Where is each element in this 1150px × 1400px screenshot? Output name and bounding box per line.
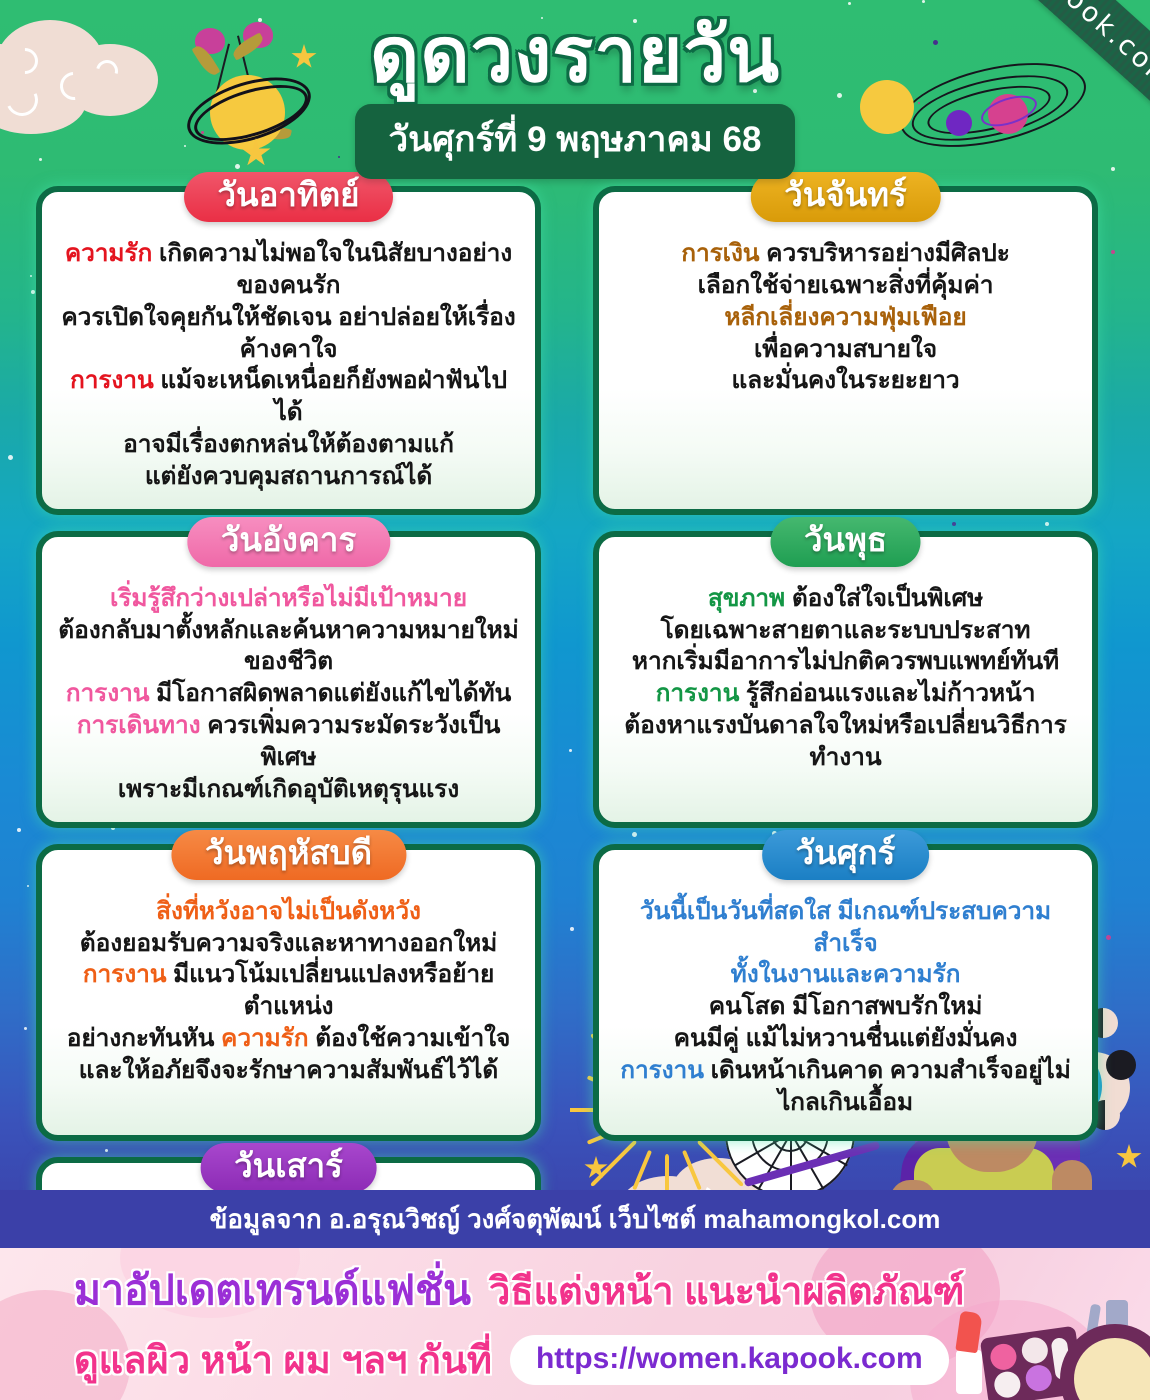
star-dot [30,275,32,277]
body-text: ต้องยอมรับความจริงและหาทางออกใหม่ [80,930,497,957]
horoscope-line: ต้องหาแรงบันดาลใจใหม่หรือเปลี่ยนวิธีการท… [613,710,1078,774]
highlight-text: สุขภาพ [708,585,792,612]
body-text: โดยเฉพาะสายตาและระบบประสาท [661,617,1031,644]
body-text: มีโอกาสผิดพลาดแต่ยังแก้ไขได้ทัน [156,680,511,707]
star-dot [922,0,925,3]
body-text: เพื่อความสบายใจ [754,336,937,363]
horoscope-line: และมั่นคงในระยะยาว [613,365,1078,397]
day-badge: วันจันทร์ [750,172,940,222]
highlight-text: การงาน [656,680,746,707]
horoscope-line: สิ่งที่หวังอาจไม่เป็นดังหวัง [56,896,521,928]
horoscope-line: เริ่มรู้สึกว่างเปล่าหรือไม่มีเป้าหมาย [56,583,521,615]
highlight-text: การงาน [66,680,156,707]
banner-url-text: https://women.kapook.com [536,1342,923,1375]
body-text: และมั่นคงในระยะยาว [731,367,959,394]
horoscope-line: การเดินทาง ควรเพิ่มความระมัดระวังเป็นพิเ… [56,710,521,774]
horoscope-line: สุขภาพ ต้องใส่ใจเป็นพิเศษ [613,583,1078,615]
body-text: ต้องใช้ความเข้าใจ [315,1025,510,1052]
highlight-text: ความรัก [221,1025,315,1052]
horoscope-line: อย่างกะทันหัน ความรัก ต้องใช้ความเข้าใจ [56,1023,521,1055]
star-dot [848,2,851,5]
horoscope-line: การงาน มีแนวโน้มเปลี่ยนแปลงหรือย้ายตำแหน… [56,959,521,1023]
body-text: อย่างกะทันหัน [67,1025,221,1052]
day-badge: วันอาทิตย์ [184,172,394,222]
horoscope-line: คนโสด มีโอกาสพบรักใหม่ [613,991,1078,1023]
horoscope-text: สิ่งที่หวังอาจไม่เป็นดังหวังต้องยอมรับคว… [56,896,521,1087]
horoscope-line: เพื่อความสบายใจ [613,334,1078,366]
star-dot [31,290,35,294]
highlight-text: การเดินทาง [77,712,207,739]
day-badge: วันอังคาร [187,517,390,567]
horoscope-line: การเงิน ควรบริหารอย่างมีศิลปะ [613,238,1078,270]
highlight-text: ทั้งในงานและความรัก [731,961,961,988]
horoscope-line: เพราะมีเกณฑ์เกิดอุบัติเหตุรุนแรง [56,774,521,806]
day-badge: วันพฤหัสบดี [171,830,406,880]
horoscope-text: ความรัก เกิดความไม่พอใจในนิสัยบางอย่างขอ… [56,238,521,493]
horoscope-line: คนมีคู่ แม้ไม่หวานชื่นแต่ยังมั่นคง [613,1023,1078,1055]
horoscope-line: ความรัก เกิดความไม่พอใจในนิสัยบางอย่างขอ… [56,238,521,302]
horoscope-line: ต้องกลับมาตั้งหลักและค้นหาความหมายใหม่ขอ… [56,615,521,679]
horoscope-card: วันศุกร์วันนี้เป็นวันที่สดใส มีเกณฑ์ประส… [593,844,1098,1141]
body-text: เกิดความไม่พอใจในนิสัยบางอย่างของคนรัก [159,240,512,299]
body-text: แม้จะเหน็ดเหนื่อยก็ยังพอฝ่าฟันไปได้ [160,367,507,426]
highlight-text: การงาน [70,367,160,394]
horoscope-line: การงาน รู้สึกอ่อนแรงและไม่ก้าวหน้า [613,678,1078,710]
bottom-ad-banner[interactable]: มาอัปเดตเทรนด์แฟชั่น วิธีแต่งหน้า แนะนำผ… [0,1248,1150,1400]
body-text: มีแนวโน้มเปลี่ยนแปลงหรือย้ายตำแหน่ง [173,961,494,1020]
body-text: ต้องกลับมาตั้งหลักและค้นหาความหมายใหม่ขอ… [58,617,518,676]
horoscope-text: สุขภาพ ต้องใส่ใจเป็นพิเศษโดยเฉพาะสายตาแล… [613,583,1078,774]
horoscope-text: วันนี้เป็นวันที่สดใส มีเกณฑ์ประสบความสำเ… [613,896,1078,1119]
body-text: อาจมีเรื่องตกหล่นให้ต้องตามแก้ [123,431,454,458]
credit-text: ข้อมูลจาก อ.อรุณวิชญ์ วงศ์จตุพัฒน์ เว็บไ… [210,1199,941,1240]
horoscope-line: หากเริ่มมีอาการไม่ปกติควรพบแพทย์ทันที [613,646,1078,678]
highlight-text: เริ่มรู้สึกว่างเปล่าหรือไม่มีเป้าหมาย [110,585,467,612]
highlight-text: การเงิน [681,240,766,267]
horoscope-line: หลีกเลี่ยงความฟุ่มเฟือย [613,302,1078,334]
body-text: เดินหน้าเกินคาด ความสำเร็จอยู่ไม่ไกลเกิน… [711,1057,1071,1116]
day-badge: วันพุธ [770,517,921,567]
date-text: วันศุกร์ที่ 9 พฤษภาคม 68 [389,120,762,159]
star-dot [17,828,21,832]
horoscope-line: ต้องยอมรับความจริงและหาทางออกใหม่ [56,928,521,960]
horoscope-text: เริ่มรู้สึกว่างเปล่าหรือไม่มีเป้าหมายต้อ… [56,583,521,806]
highlight-text: วันนี้เป็นวันที่สดใส มีเกณฑ์ประสบความสำเ… [640,898,1051,957]
body-text: ต้องหาแรงบันดาลใจใหม่หรือเปลี่ยนวิธีการท… [624,712,1066,771]
horoscope-line: แต่ยังควบคุมสถานการณ์ได้ [56,461,521,493]
body-text: ควรบริหารอย่างมีศิลปะ [766,240,1010,267]
body-text: ควรเปิดใจคุยกันให้ชัดเจน อย่าปล่อยให้เรื… [61,304,515,363]
body-text: เพราะมีเกณฑ์เกิดอุบัติเหตุรุนแรง [118,776,459,803]
star-dot [27,885,29,887]
day-badge: วันศุกร์ [762,830,930,880]
horoscope-line: ควรเปิดใจคุยกันให้ชัดเจน อย่าปล่อยให้เรื… [56,302,521,366]
body-text: คนโสด มีโอกาสพบรักใหม่ [709,993,983,1020]
header: ดูดวงรายวัน วันศุกร์ที่ 9 พฤษภาคม 68 [0,16,1150,179]
horoscope-line: เลือกใช้จ่ายเฉพาะสิ่งที่คุ้มค่า [613,270,1078,302]
poster-root: www.kapook.com ดูดวงรายวัน วันศุกร์ที่ 9… [0,0,1150,1400]
body-text: เลือกใช้จ่ายเฉพาะสิ่งที่คุ้มค่า [698,272,994,299]
horoscope-line: ทั้งในงานและความรัก [613,959,1078,991]
body-text: และให้อภัยจึงจะรักษาความสัมพันธ์ไว้ได้ [79,1057,498,1084]
horoscope-card: วันจันทร์การเงิน ควรบริหารอย่างมีศิลปะเล… [593,186,1098,515]
horoscope-line: และให้อภัยจึงจะรักษาความสัมพันธ์ไว้ได้ [56,1055,521,1087]
horoscope-line: อาจมีเรื่องตกหล่นให้ต้องตามแก้ [56,429,521,461]
horoscope-line: โดยเฉพาะสายตาและระบบประสาท [613,615,1078,647]
horoscope-card: วันอังคารเริ่มรู้สึกว่างเปล่าหรือไม่มีเป… [36,531,541,828]
highlight-text: สิ่งที่หวังอาจไม่เป็นดังหวัง [156,898,421,925]
horoscope-line: การงาน แม้จะเหน็ดเหนื่อยก็ยังพอฝ่าฟันไปไ… [56,365,521,429]
highlight-text: การงาน [83,961,173,988]
horoscope-line: วันนี้เป็นวันที่สดใส มีเกณฑ์ประสบความสำเ… [613,896,1078,960]
highlight-text: หลีกเลี่ยงความฟุ่มเฟือย [724,304,966,331]
horoscope-card: วันพฤหัสบดีสิ่งที่หวังอาจไม่เป็นดังหวังต… [36,844,541,1141]
horoscope-card: วันอาทิตย์ความรัก เกิดความไม่พอใจในนิสัย… [36,186,541,515]
body-text: แต่ยังควบคุมสถานการณ์ได้ [145,463,432,490]
banner-headline-pink: วิธีแต่งหน้า แนะนำผลิตภัณฑ์ [489,1260,964,1321]
body-text: ควรเพิ่มความระมัดระวังเป็นพิเศษ [207,712,500,771]
banner-headline-purple: มาอัปเดตเทรนด์แฟชั่น [74,1258,471,1323]
body-text: ต้องใส่ใจเป็นพิเศษ [792,585,983,612]
credit-bar: ข้อมูลจาก อ.อรุณวิชญ์ วงศ์จตุพัฒน์ เว็บไ… [0,1190,1150,1248]
day-badge: วันเสาร์ [200,1143,377,1193]
body-text: หากเริ่มมีอาการไม่ปกติควรพบแพทย์ทันที [632,648,1059,675]
banner-subline: ดูแลผิว หน้า ผม ฯลฯ กันที่ [74,1329,492,1390]
star-dot [8,455,13,460]
horoscope-card: วันพุธสุขภาพ ต้องใส่ใจเป็นพิเศษโดยเฉพาะส… [593,531,1098,828]
body-text: รู้สึกอ่อนแรงและไม่ก้าวหน้า [746,680,1035,707]
banner-url-button[interactable]: https://women.kapook.com [510,1335,949,1385]
horoscope-line: การงาน เดินหน้าเกินคาด ความสำเร็จอยู่ไม่… [613,1055,1078,1119]
highlight-text: ความรัก [65,240,159,267]
horoscope-line: การงาน มีโอกาสผิดพลาดแต่ยังแก้ไขได้ทัน [56,678,521,710]
horoscope-text: การเงิน ควรบริหารอย่างมีศิลปะเลือกใช้จ่า… [613,238,1078,397]
highlight-text: การงาน [620,1057,710,1084]
page-title: ดูดวงรายวัน [0,16,1150,96]
body-text: คนมีคู่ แม้ไม่หวานชื่นแต่ยังมั่นคง [674,1025,1018,1052]
star-dot [24,1027,27,1030]
date-pill: วันศุกร์ที่ 9 พฤษภาคม 68 [355,104,796,179]
